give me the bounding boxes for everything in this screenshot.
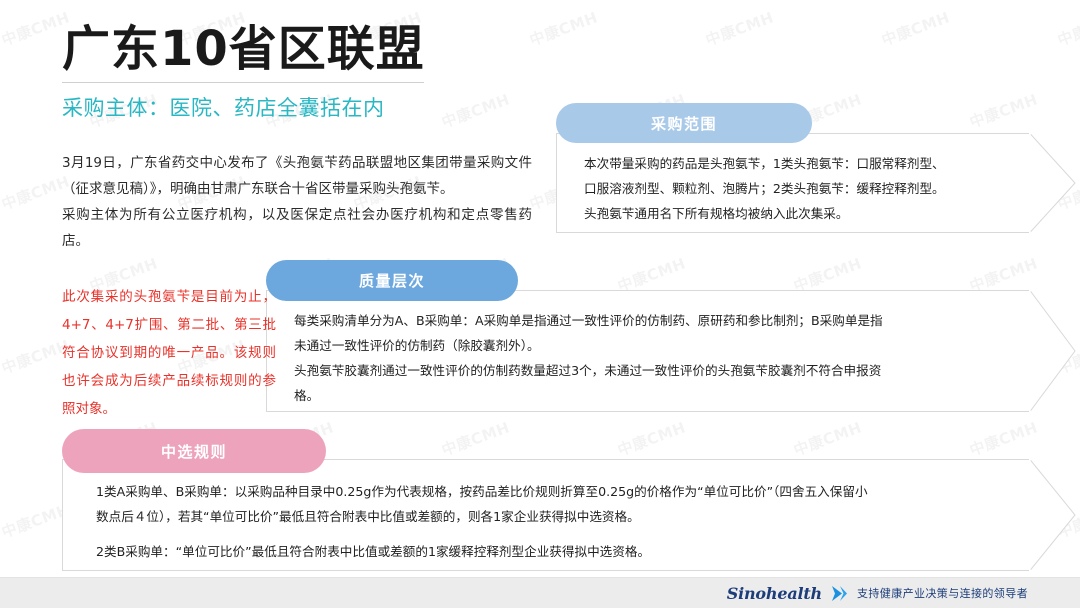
rules-body: 1类A采购单、B采购单：以采购品种目录中0.25g作为代表规格，按药品差比价规则… <box>96 479 1006 564</box>
quality-line-2: 未通过一致性评价的仿制药（除胶囊剂外）。 <box>294 333 1024 358</box>
rules-badge: 中选规则 <box>62 429 326 473</box>
quality-line-4: 格。 <box>294 383 1024 408</box>
section-scope: 采购范围 本次带量采购的药品是头孢氨苄，1类头孢氨苄：口服常释剂型、 口服溶液剂… <box>556 103 1076 235</box>
footer-bar: Sinohealth 支持健康产业决策与连接的领导者 <box>0 577 1080 608</box>
brand-name: Sinohealth <box>727 584 822 603</box>
intro-paragraph-2: 采购主体为所有公立医疗机构，以及医保定点社会办医疗机构和定点零售药店。 <box>62 202 532 254</box>
quality-body: 每类采购清单分为A、B采购单：A采购单是指通过一致性评价的仿制药、原研药和参比制… <box>294 308 1024 408</box>
highlight-text: 此次集采的头孢氨苄是目前为止，4+7、4+7扩围、第二批、第三批符合协议到期的唯… <box>62 283 276 423</box>
section-quality-tier: 质量层次 每类采购清单分为A、B采购单：A采购单是指通过一致性评价的仿制药、原研… <box>266 260 1076 412</box>
sinohealth-chevron-icon <box>831 585 848 602</box>
watermark-text: 中康CMH <box>879 6 953 50</box>
quality-line-3: 头孢氨苄胶囊剂通过一致性评价的仿制药数量超过3个，未通过一致性评价的头孢氨苄胶囊… <box>294 358 1024 383</box>
title-divider <box>62 82 424 83</box>
rules-line-1: 1类A采购单、B采购单：以采购品种目录中0.25g作为代表规格，按药品差比价规则… <box>96 479 1006 504</box>
rules-panel-arrow <box>1029 459 1075 571</box>
scope-line-3: 头孢氨苄通用名下所有规格均被纳入此次集采。 <box>584 201 1004 226</box>
title-block: 广东10省区联盟 采购主体：医院、药店全囊括在内 <box>62 24 462 122</box>
rules-line-3 <box>96 529 1006 539</box>
scope-badge-label: 采购范围 <box>651 113 717 134</box>
quality-line-1: 每类采购清单分为A、B采购单：A采购单是指通过一致性评价的仿制药、原研药和参比制… <box>294 308 1024 333</box>
watermark-text: 中康CMH <box>703 6 777 50</box>
page-subtitle: 采购主体：医院、药店全囊括在内 <box>62 92 462 122</box>
footer-slogan: 支持健康产业决策与连接的领导者 <box>857 585 1028 601</box>
intro-paragraph-1: 3月19日，广东省药交中心发布了《头孢氨苄药品联盟地区集团带量采购文件（征求意见… <box>62 150 532 202</box>
page-title: 广东10省区联盟 <box>62 24 462 76</box>
watermark-text: 中康CMH <box>527 6 601 50</box>
intro-block: 3月19日，广东省药交中心发布了《头孢氨苄药品联盟地区集团带量采购文件（征求意见… <box>62 150 532 254</box>
quality-panel-arrow <box>1029 290 1075 412</box>
section-winning-rules: 中选规则 1类A采购单、B采购单：以采购品种目录中0.25g作为代表规格，按药品… <box>62 429 1076 571</box>
quality-badge: 质量层次 <box>266 260 518 301</box>
scope-line-1: 本次带量采购的药品是头孢氨苄，1类头孢氨苄：口服常释剂型、 <box>584 151 1004 176</box>
scope-body: 本次带量采购的药品是头孢氨苄，1类头孢氨苄：口服常释剂型、 口服溶液剂型、颗粒剂… <box>584 151 1004 226</box>
highlight-block: 此次集采的头孢氨苄是目前为止，4+7、4+7扩围、第二批、第三批符合协议到期的唯… <box>62 283 276 423</box>
rules-line-4: 2类B采购单：“单位可比价”最低且符合附表中比值或差额的1家缓释控释剂型企业获得… <box>96 539 1006 564</box>
scope-line-2: 口服溶液剂型、颗粒剂、泡腾片；2类头孢氨苄：缓释控释剂型。 <box>584 176 1004 201</box>
footer-brand-group: Sinohealth 支持健康产业决策与连接的领导者 <box>727 584 1028 603</box>
quality-badge-label: 质量层次 <box>359 270 425 291</box>
rules-line-2: 数点后４位），若其“单位可比价”最低且符合附表中比值或差额的，则各1家企业获得拟… <box>96 504 1006 529</box>
rules-badge-label: 中选规则 <box>161 441 227 462</box>
scope-panel-arrow <box>1029 133 1075 233</box>
scope-badge: 采购范围 <box>556 103 812 143</box>
watermark-text: 中康CMH <box>1055 6 1080 50</box>
